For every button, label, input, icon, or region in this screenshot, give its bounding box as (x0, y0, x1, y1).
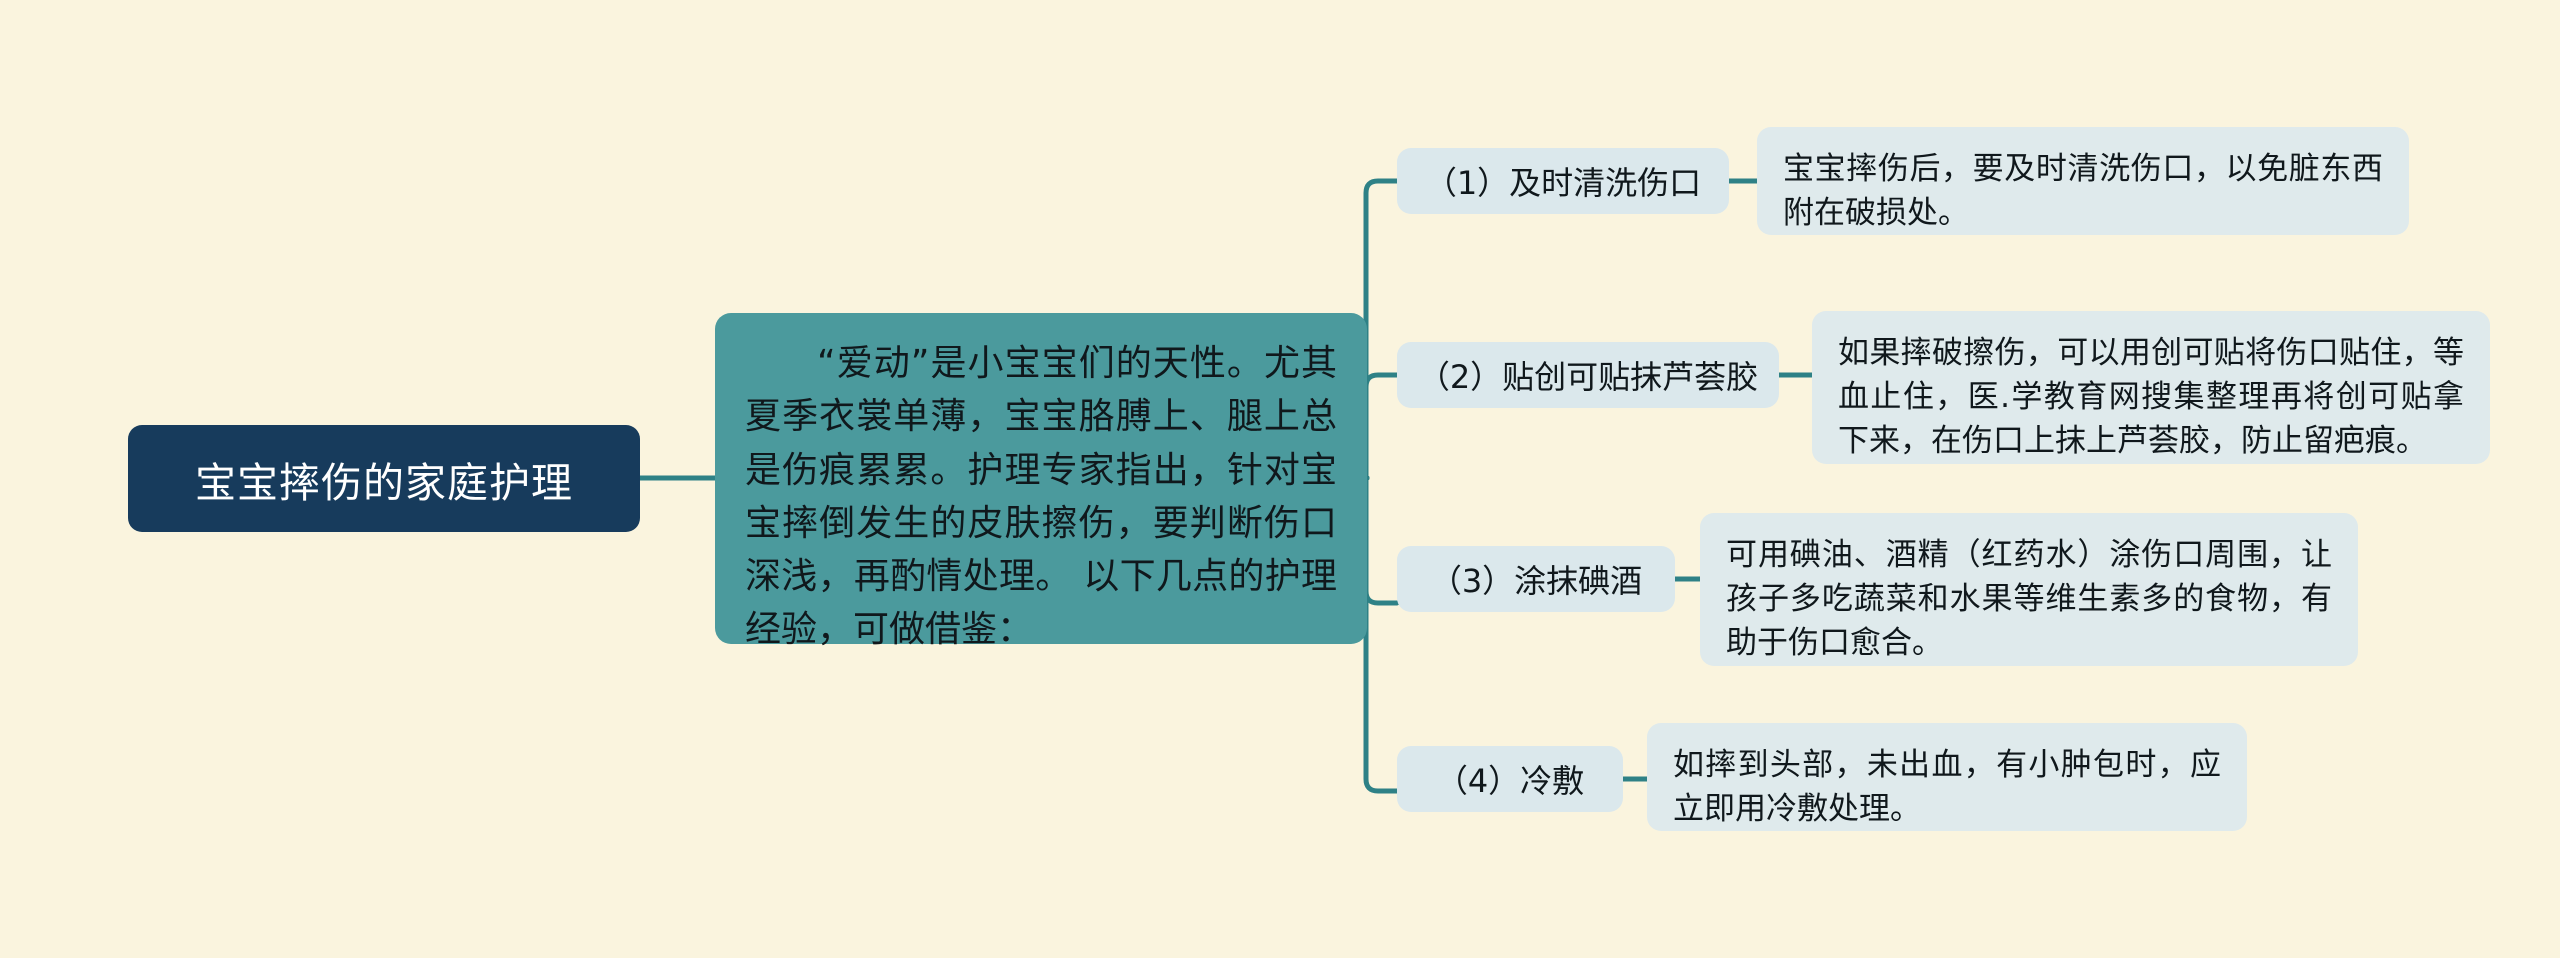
branch-node-4-label: （4）冷敷 (1436, 756, 1584, 802)
branch-node-2-label: （2）贴创可贴抹芦荟胶 (1418, 352, 1758, 398)
detail-node-3[interactable]: 可用碘油、酒精（红药水）涂伤口周围，让孩子多吃蔬菜和水果等维生素多的食物，有助于… (1700, 513, 2358, 666)
branch-node-3-label: （3）涂抹碘酒 (1430, 556, 1642, 602)
detail-node-2[interactable]: 如果摔破擦伤，可以用创可贴将伤口贴住，等血止住，医.学教育网搜集整理再将创可贴拿… (1812, 311, 2490, 464)
connector-branch-2 (1366, 375, 1397, 478)
mindmap-canvas: 宝宝摔伤的家庭护理 “爱动”是小宝宝们的天性。尤其夏季衣裳单薄，宝宝胳膊上、腿上… (0, 0, 2560, 958)
detail-node-2-text: 如果摔破擦伤，可以用创可贴将伤口贴住，等血止住，医.学教育网搜集整理再将创可贴拿… (1838, 335, 2464, 459)
summary-node[interactable]: “爱动”是小宝宝们的天性。尤其夏季衣裳单薄，宝宝胳膊上、腿上总是伤痕累累。护理专… (715, 313, 1367, 644)
branch-node-2[interactable]: （2）贴创可贴抹芦荟胶 (1397, 342, 1779, 408)
branch-node-3[interactable]: （3）涂抹碘酒 (1397, 546, 1675, 612)
detail-node-1[interactable]: 宝宝摔伤后，要及时清洗伤口，以免脏东西附在破损处。 (1757, 127, 2409, 235)
root-node-title[interactable]: 宝宝摔伤的家庭护理 (128, 425, 640, 532)
summary-node-text: “爱动”是小宝宝们的天性。尤其夏季衣裳单薄，宝宝胳膊上、腿上总是伤痕累累。护理专… (745, 343, 1337, 650)
connector-branch-3 (1366, 478, 1397, 603)
detail-node-4[interactable]: 如摔到头部，未出血，有小肿包时，应立即用冷敷处理。 (1647, 723, 2247, 831)
detail-node-3-text: 可用碘油、酒精（红药水）涂伤口周围，让孩子多吃蔬菜和水果等维生素多的食物，有助于… (1726, 537, 2332, 661)
branch-node-1[interactable]: （1）及时清洗伤口 (1397, 148, 1729, 214)
detail-node-4-text: 如摔到头部，未出血，有小肿包时，应立即用冷敷处理。 (1673, 747, 2221, 827)
connector-branch-1 (1366, 181, 1397, 478)
connector-branch-4 (1366, 478, 1397, 791)
detail-node-1-text: 宝宝摔伤后，要及时清洗伤口，以免脏东西附在破损处。 (1783, 151, 2383, 231)
branch-node-1-label: （1）及时清洗伤口 (1425, 158, 1701, 204)
root-node-label: 宝宝摔伤的家庭护理 (195, 449, 573, 509)
branch-node-4[interactable]: （4）冷敷 (1397, 746, 1623, 812)
